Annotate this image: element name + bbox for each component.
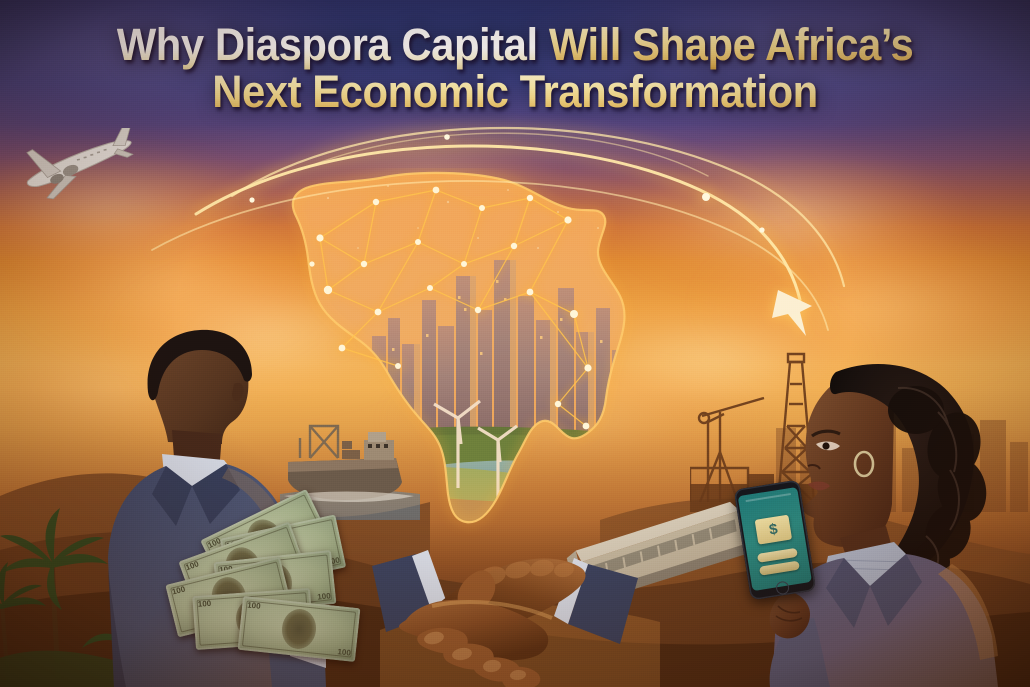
businesswoman-right (766, 350, 1030, 687)
title-part-gold: Will Shape Africa’s (549, 19, 913, 70)
dollar-banknote-icon: $ (755, 515, 792, 545)
us-dollar-banknotes: 100100 100100 100100 100100 100100 10010… (168, 512, 358, 662)
airplane-icon (8, 128, 148, 204)
title-part-white: Why Diaspora Capital (117, 19, 549, 70)
handshake (372, 508, 638, 687)
title-line-1: Why Diaspora Capital Will Shape Africa’s (36, 22, 994, 69)
phone-secondary-button[interactable] (759, 561, 800, 576)
hero-banner: $ 100100 100100 100100 100100 100100 (0, 0, 1030, 687)
phone-status-bar (745, 493, 791, 502)
page-title: Why Diaspora Capital Will Shape Africa’s… (36, 22, 994, 116)
title-line-2: Next Economic Transformation (36, 69, 994, 116)
banknote: 100100 (238, 596, 361, 662)
